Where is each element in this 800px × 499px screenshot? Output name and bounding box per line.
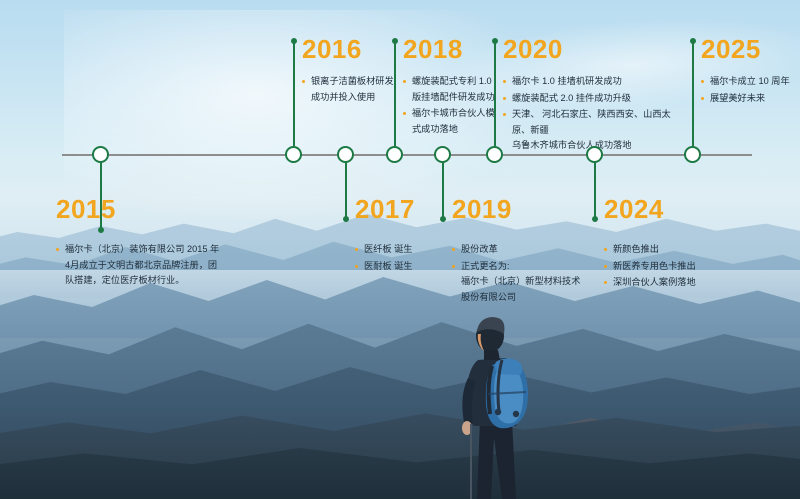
- bullet-item: 福尔卡（北京）装饰有限公司 2015 年 4月成立于文明古都北京品牌注册，团 队…: [56, 242, 221, 289]
- year-label: 2016: [302, 36, 402, 62]
- timeline-entry-2024: 2024 新颜色推出 新医养专用色卡推出 深圳合伙人案例落地: [604, 196, 734, 292]
- timeline-entry-2018: 2018 螺旋装配式专利 1.0 版挂墙配件研发成功 福尔卡城市合伙人模 式成功…: [403, 36, 503, 138]
- bullet-list: 福尔卡（北京）装饰有限公司 2015 年 4月成立于文明古都北京品牌注册，团 队…: [56, 242, 221, 289]
- year-label: 2020: [503, 36, 683, 62]
- timeline-stem: [594, 162, 596, 219]
- bullet-item: 银离子洁菌板材研发 成功并投入使用: [302, 74, 402, 105]
- timeline-entry-2017: 2017 医纤板 诞生 医耐板 诞生: [355, 196, 460, 275]
- year-label: 2015: [56, 196, 221, 222]
- timeline: 2015 福尔卡（北京）装饰有限公司 2015 年 4月成立于文明古都北京品牌注…: [0, 0, 800, 499]
- bullet-item: 福尔卡 1.0 挂墙机研发成功: [503, 74, 683, 90]
- timeline-stem: [345, 162, 347, 219]
- timeline-marker-ring: [434, 146, 451, 163]
- bullet-list: 新颜色推出 新医养专用色卡推出 深圳合伙人案例落地: [604, 242, 734, 291]
- bullet-item: 福尔卡成立 10 周年: [701, 74, 800, 90]
- bullet-item: 螺旋装配式 2.0 挂件成功升级: [503, 91, 683, 107]
- bullet-item: 新医养专用色卡推出: [604, 259, 734, 275]
- timeline-marker-ring: [486, 146, 503, 163]
- bullet-item: 深圳合伙人案例落地: [604, 275, 734, 291]
- timeline-marker-ring: [285, 146, 302, 163]
- timeline-stem: [692, 41, 694, 146]
- timeline-entry-2020: 2020 福尔卡 1.0 挂墙机研发成功 螺旋装配式 2.0 挂件成功升级 天津…: [503, 36, 683, 155]
- timeline-stem: [494, 41, 496, 146]
- bullet-item: 医耐板 诞生: [355, 259, 460, 275]
- timeline-entry-2016: 2016 银离子洁菌板材研发 成功并投入使用: [302, 36, 402, 106]
- bullet-item: 新颜色推出: [604, 242, 734, 258]
- timeline-stem-dot: [592, 216, 598, 222]
- timeline-marker-ring: [337, 146, 354, 163]
- timeline-entry-2015: 2015 福尔卡（北京）装饰有限公司 2015 年 4月成立于文明古都北京品牌注…: [56, 196, 221, 290]
- bullet-list: 银离子洁菌板材研发 成功并投入使用: [302, 74, 402, 105]
- bullet-list: 股份改革 正式更名为: 福尔卡（北京）新型材料技术 股份有限公司: [452, 242, 582, 305]
- bullet-item: 展望美好未来: [701, 91, 800, 107]
- bullet-item: 股份改革: [452, 242, 582, 258]
- timeline-marker-ring: [386, 146, 403, 163]
- year-label: 2019: [452, 196, 582, 222]
- timeline-stem-dot: [690, 38, 696, 44]
- bullet-list: 医纤板 诞生 医耐板 诞生: [355, 242, 460, 274]
- timeline-stem-dot: [291, 38, 297, 44]
- bullet-list: 福尔卡成立 10 周年 展望美好未来: [701, 74, 800, 106]
- bullet-item: 螺旋装配式专利 1.0 版挂墙配件研发成功: [403, 74, 503, 105]
- timeline-stem-dot: [492, 38, 498, 44]
- timeline-stem: [442, 162, 444, 219]
- timeline-marker-ring: [92, 146, 109, 163]
- bullet-list: 螺旋装配式专利 1.0 版挂墙配件研发成功 福尔卡城市合伙人模 式成功落地: [403, 74, 503, 137]
- timeline-stem-dot: [440, 216, 446, 222]
- timeline-marker-ring: [586, 146, 603, 163]
- bullet-item: 福尔卡城市合伙人模 式成功落地: [403, 106, 503, 137]
- timeline-entry-2019: 2019 股份改革 正式更名为: 福尔卡（北京）新型材料技术 股份有限公司: [452, 196, 582, 306]
- year-label: 2024: [604, 196, 734, 222]
- year-label: 2025: [701, 36, 800, 62]
- bullet-item: 正式更名为: 福尔卡（北京）新型材料技术 股份有限公司: [452, 259, 582, 306]
- timeline-stem-dot: [343, 216, 349, 222]
- year-label: 2018: [403, 36, 503, 62]
- timeline-stem-dot: [392, 38, 398, 44]
- timeline-stem: [293, 41, 295, 146]
- bullet-list: 福尔卡 1.0 挂墙机研发成功 螺旋装配式 2.0 挂件成功升级 天津、 河北石…: [503, 74, 683, 154]
- timeline-entry-2025: 2025 福尔卡成立 10 周年 展望美好未来: [701, 36, 800, 107]
- bullet-item: 医纤板 诞生: [355, 242, 460, 258]
- timeline-stem: [394, 41, 396, 146]
- timeline-marker-ring: [684, 146, 701, 163]
